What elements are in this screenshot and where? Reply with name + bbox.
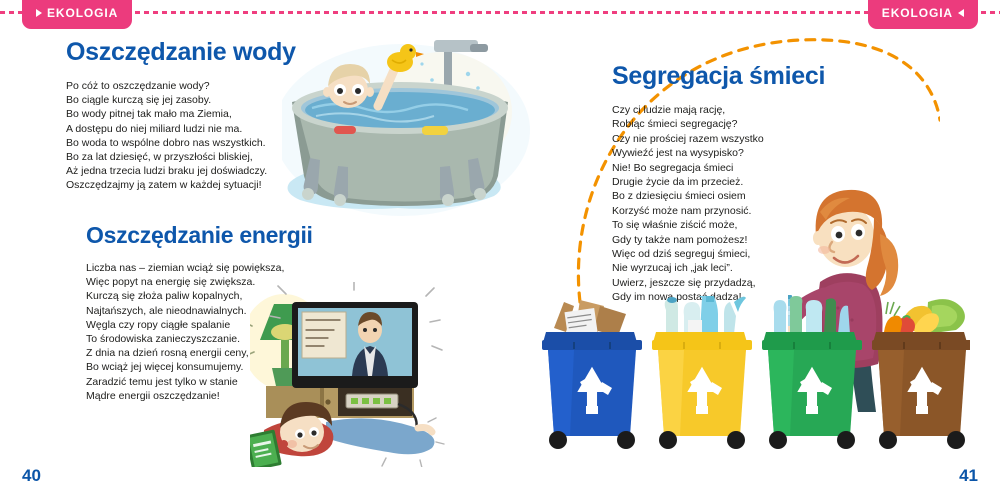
bin-plastic [652,296,752,449]
waste-title: Segregacja śmieci [612,62,912,91]
bin-glass [762,296,862,449]
page-number-left: 40 [22,466,41,486]
illustration-bath [282,34,532,224]
chapter-tab-left-label: EKOLOGIA [47,6,118,20]
top-dashed-rule [0,11,1000,14]
bin-paper [542,300,642,449]
illustration-tv [250,282,505,467]
book-spread: EKOLOGIA EKOLOGIA Oszczędzanie wody Po c… [0,0,1000,500]
illustration-bins [540,296,970,461]
chapter-tab-right[interactable]: EKOLOGIA [868,0,978,29]
bin-organic [872,299,970,449]
energy-title: Oszczędzanie energii [86,222,376,249]
triangle-left-icon [958,9,964,17]
page-number-right: 41 [959,466,978,486]
triangle-right-icon [36,9,42,17]
chapter-tab-left[interactable]: EKOLOGIA [22,0,132,29]
chapter-tab-right-label: EKOLOGIA [882,6,953,20]
